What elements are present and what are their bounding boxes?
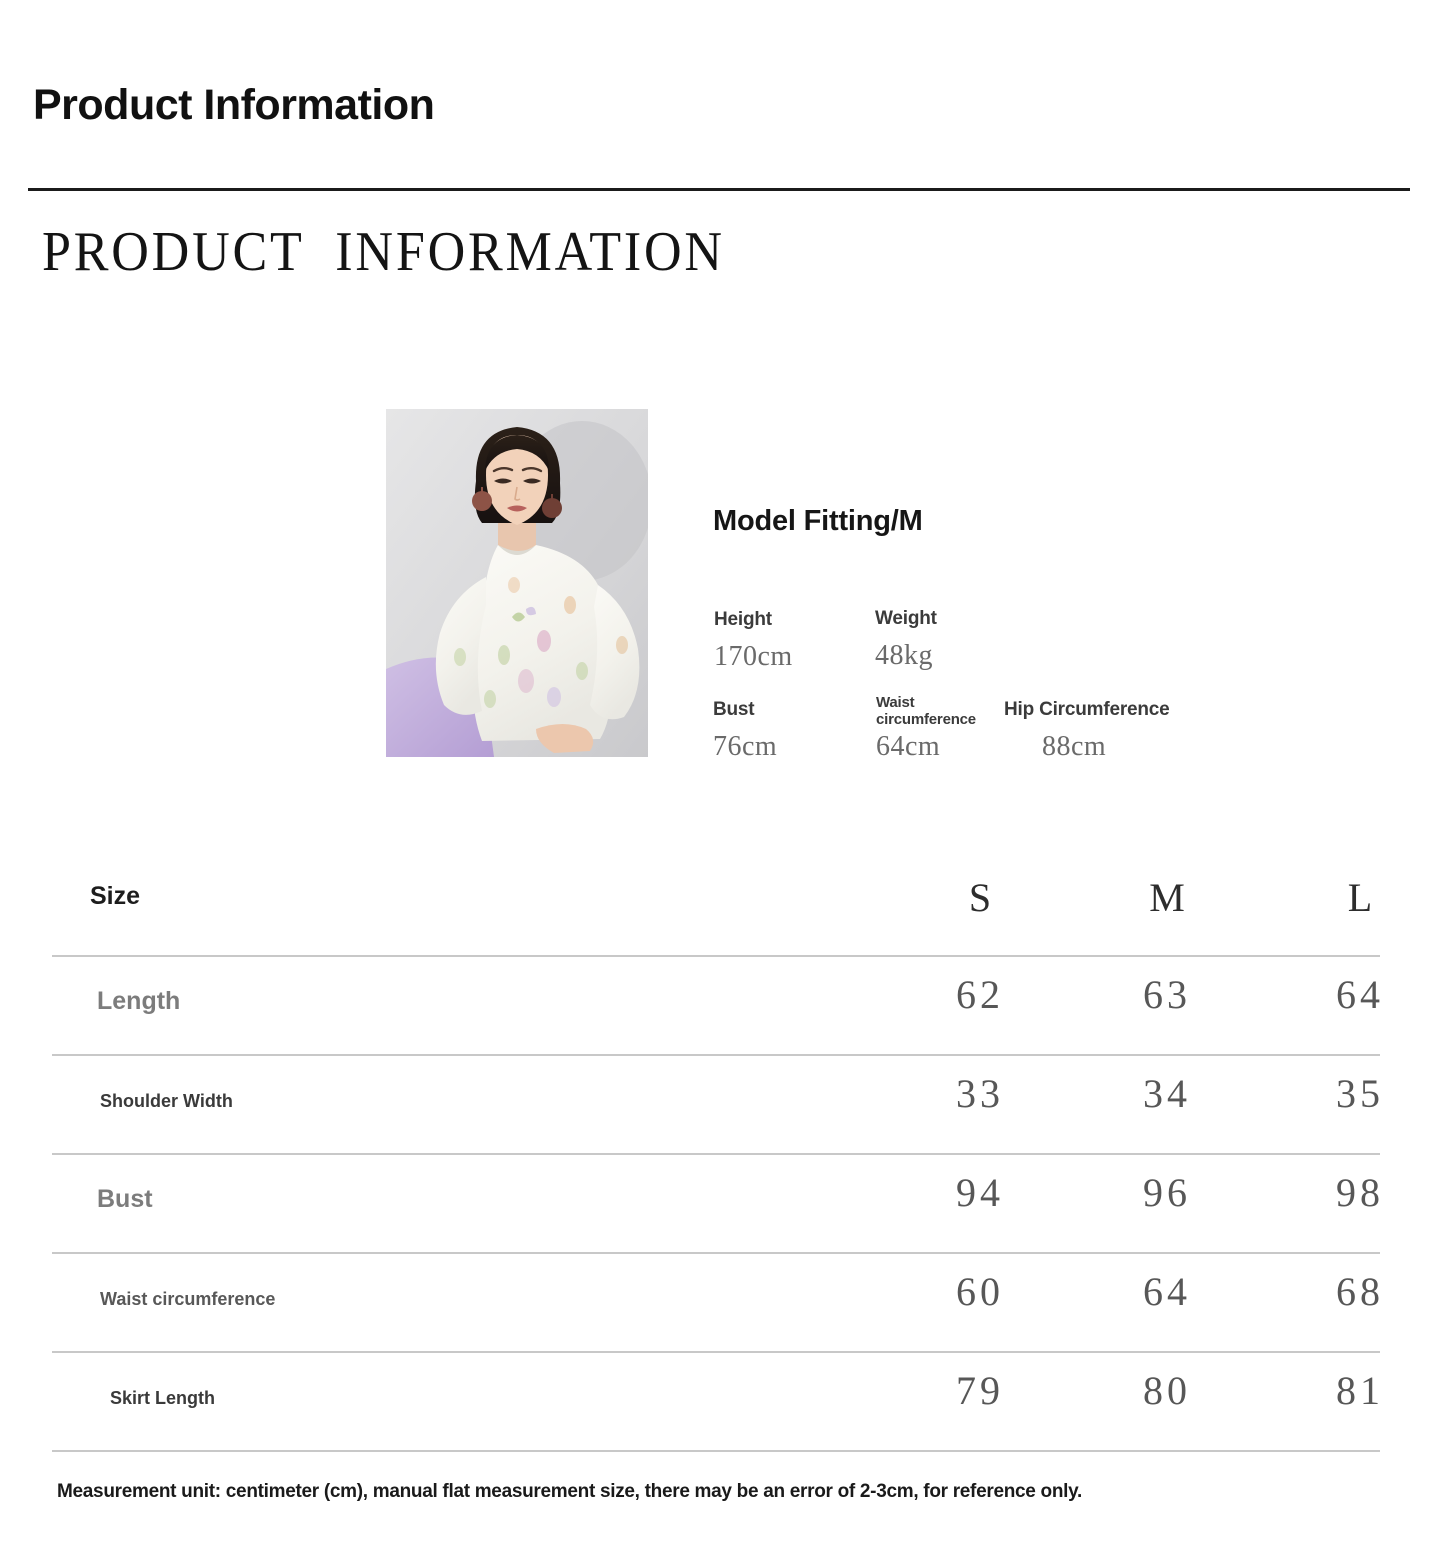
table-divider (52, 1450, 1380, 1452)
cell-waist-circumference-m: 64 (1067, 1268, 1267, 1315)
size-table: Size S M L Length 62 63 64 Shoulder Widt… (52, 872, 1380, 1452)
row-label-shoulder-width: Shoulder Width (100, 1091, 233, 1112)
cell-skirt-length-l: 81 (1260, 1367, 1445, 1414)
row-label-bust: Bust (97, 1185, 153, 1214)
model-waist-label: Waist circumference (876, 694, 986, 729)
row-label-waist-circumference: Waist circumference (100, 1289, 275, 1310)
table-row: Waist circumference 60 64 68 (52, 1254, 1380, 1353)
model-photo (386, 409, 648, 757)
cell-waist-circumference-l: 68 (1260, 1268, 1445, 1315)
model-hip-value: 88cm (1042, 731, 1106, 763)
row-label-length: Length (97, 987, 180, 1016)
cell-skirt-length-m: 80 (1067, 1367, 1267, 1414)
cell-waist-circumference-s: 60 (880, 1268, 1080, 1315)
model-bust-value: 76cm (713, 731, 777, 763)
model-fitting-title: Model Fitting/M (713, 505, 923, 538)
table-row: Bust 94 96 98 (52, 1155, 1380, 1254)
cell-bust-m: 96 (1067, 1169, 1267, 1216)
model-waist-value: 64cm (876, 731, 940, 763)
cell-skirt-length-s: 79 (880, 1367, 1080, 1414)
column-header-l: L (1260, 874, 1445, 921)
model-bust-label: Bust (713, 699, 754, 721)
title-divider (28, 188, 1410, 191)
table-header-row: Size S M L (52, 872, 1380, 957)
banner-heading: PRODUCT INFORMATION (42, 222, 725, 284)
page-title: Product Information (33, 84, 434, 127)
model-height-label: Height (714, 609, 772, 631)
cell-length-l: 64 (1260, 971, 1445, 1018)
table-row: Skirt Length 79 80 81 (52, 1353, 1380, 1452)
row-label-skirt-length: Skirt Length (110, 1388, 215, 1409)
model-weight-label: Weight (875, 608, 937, 630)
column-header-s: S (880, 874, 1080, 921)
cell-shoulder-width-l: 35 (1260, 1070, 1445, 1117)
cell-length-s: 62 (880, 971, 1080, 1018)
column-header-m: M (1067, 874, 1267, 921)
size-header-label: Size (90, 882, 140, 911)
table-row: Shoulder Width 33 34 35 (52, 1056, 1380, 1155)
cell-shoulder-width-s: 33 (880, 1070, 1080, 1117)
measurement-note: Measurement unit: centimeter (cm), manua… (57, 1481, 1082, 1503)
cell-length-m: 63 (1067, 971, 1267, 1018)
cell-bust-s: 94 (880, 1169, 1080, 1216)
cell-bust-l: 98 (1260, 1169, 1445, 1216)
model-hip-label: Hip Circumference (1004, 699, 1170, 721)
table-row: Length 62 63 64 (52, 957, 1380, 1056)
model-weight-value: 48kg (875, 640, 933, 672)
cell-shoulder-width-m: 34 (1067, 1070, 1267, 1117)
model-height-value: 170cm (714, 641, 793, 673)
